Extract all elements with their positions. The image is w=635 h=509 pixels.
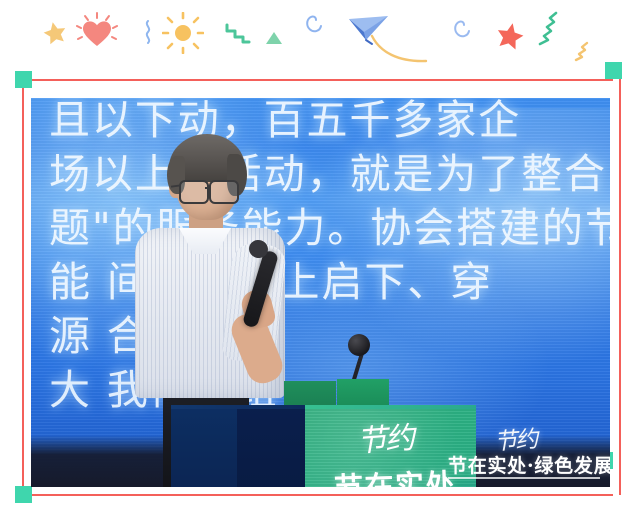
radiant-heart-icon xyxy=(76,12,118,54)
banner-slogan: 节在实处·绿色发展 xyxy=(448,451,610,478)
squiggle-icon xyxy=(141,20,155,44)
triangle-icon xyxy=(264,30,284,46)
podium-top-edge xyxy=(171,405,476,409)
star-red-icon xyxy=(495,21,525,51)
podium-panel-middle xyxy=(237,405,305,487)
zigzag-green-icon xyxy=(224,22,252,46)
glasses-lens-left xyxy=(179,180,209,204)
podium: 节约 节在实处 绿色发展 xyxy=(171,405,476,487)
glasses-bridge xyxy=(205,187,211,189)
spiral-blue-2-icon xyxy=(448,18,472,42)
frame-line-top xyxy=(22,79,613,81)
glasses-lens-right xyxy=(209,180,239,204)
zigzag-yellow-icon xyxy=(568,40,592,62)
zigzag-green-2-icon xyxy=(532,10,562,46)
decoration-strip xyxy=(0,0,635,78)
sun-icon xyxy=(162,12,204,54)
frame-corner-bottom-left xyxy=(15,486,32,503)
star-icon xyxy=(42,20,68,46)
frame-corner-top-right xyxy=(605,62,622,79)
frame-line-right xyxy=(619,79,621,495)
frame-line-bottom xyxy=(22,494,613,496)
frame-corner-top-left xyxy=(15,71,32,88)
podium-panel-left xyxy=(171,405,237,487)
stand-microphone-head xyxy=(348,334,370,356)
podium-brush-mark: 节约 xyxy=(356,420,432,461)
spiral-blue-icon xyxy=(300,13,324,37)
frame-line-left xyxy=(22,79,24,495)
stage-banner: 节约 节在实处·绿色发展 xyxy=(440,423,610,487)
screen-text-line: 且以下动，百五千多家企 xyxy=(49,98,521,146)
poster-stage: 且以下动，百五千多家企 场以上的活动，就是为了整合 题"的服务能力。协会搭建的节… xyxy=(0,0,635,509)
conference-photo: 且以下动，百五千多家企 场以上的活动，就是为了整合 题"的服务能力。协会搭建的节… xyxy=(31,98,610,487)
banner-underline xyxy=(448,477,600,479)
plane-trail-icon xyxy=(368,32,440,68)
